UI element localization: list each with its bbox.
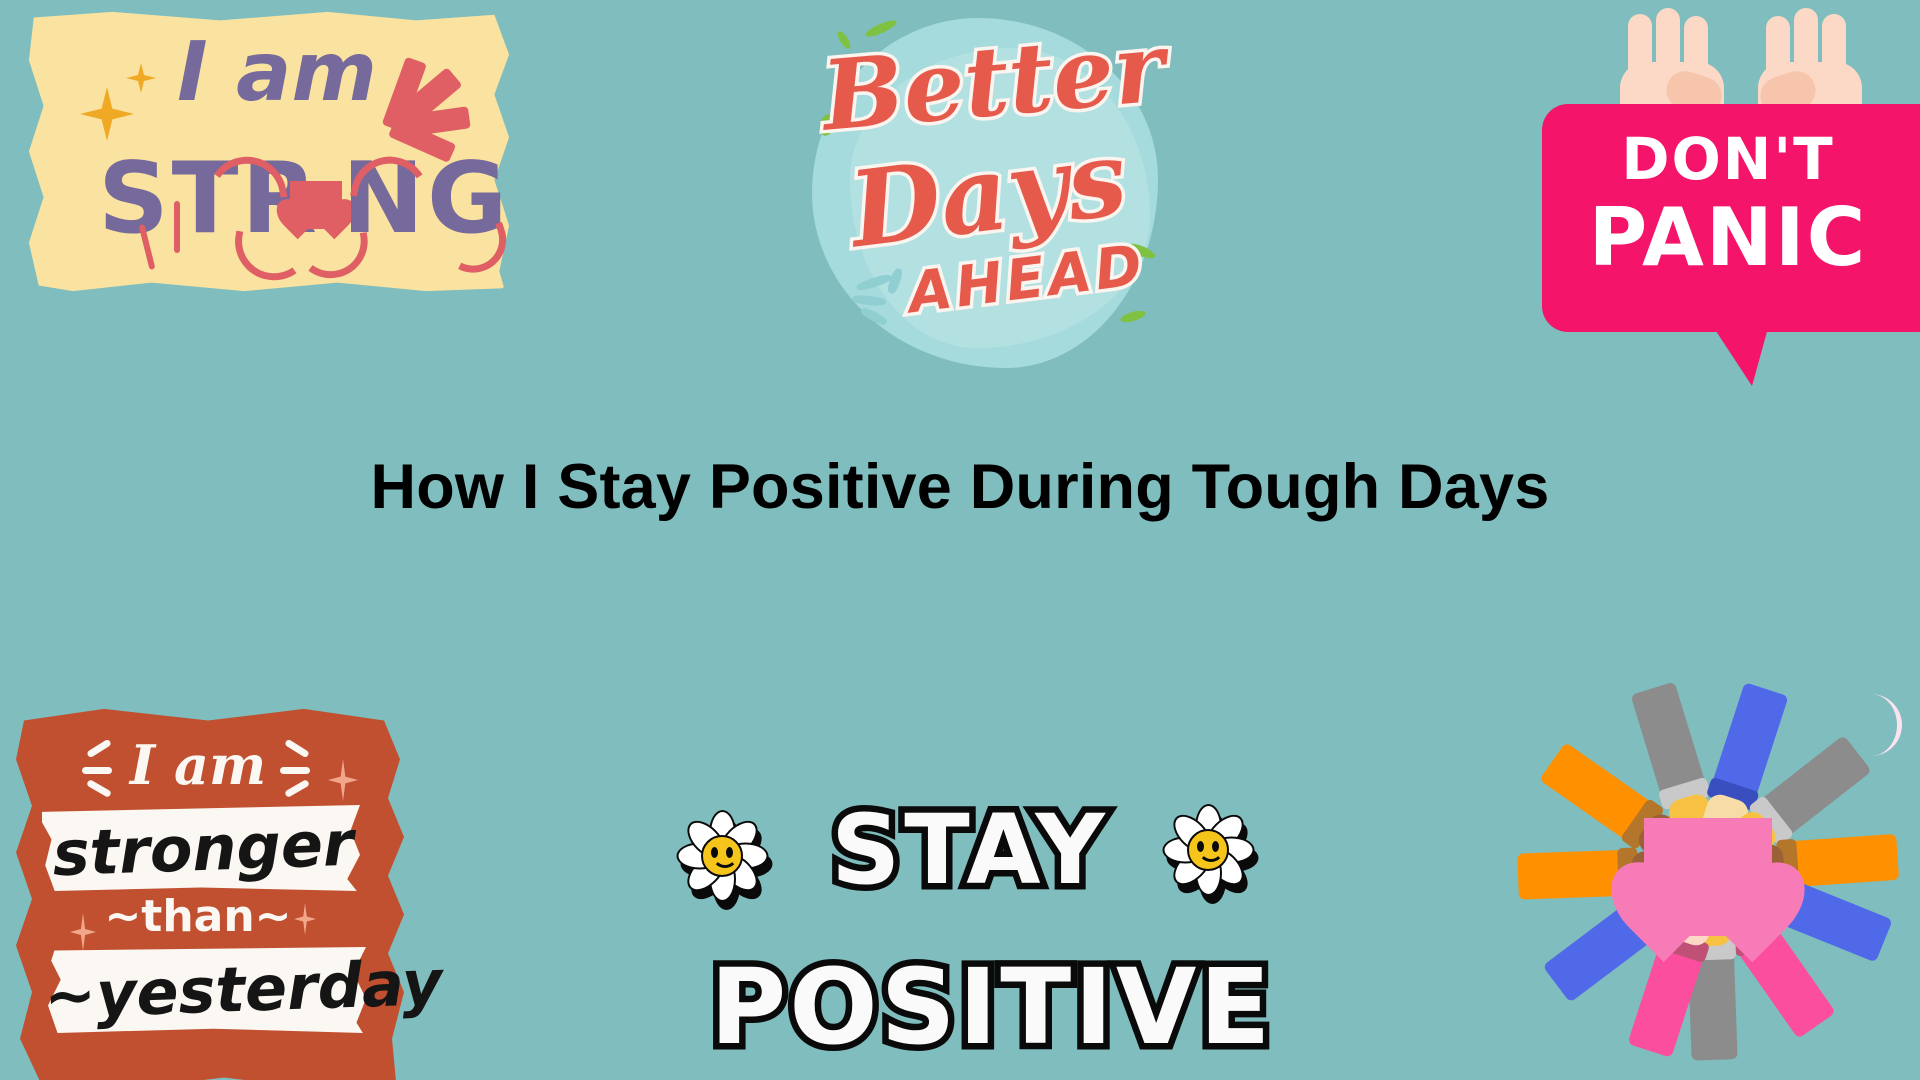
yesterday-line-1: I am — [48, 735, 348, 795]
leaf-accent — [1119, 309, 1146, 325]
better-days-ahead-sticker: Better Days AHEAD — [790, 0, 1180, 388]
hands-around-heart-illustration — [1495, 660, 1920, 1080]
poster-canvas: I am STR NG — [0, 0, 1920, 1080]
stay-positive-line-2: POSITIVE — [710, 940, 1230, 1074]
sticker-line-1: I am — [132, 21, 422, 125]
heart-icon — [290, 181, 342, 229]
smiley-face-icon — [701, 835, 743, 877]
dont-panic-line-2: PANIC — [1542, 196, 1914, 280]
stay-positive-line-1: STAY — [820, 788, 1120, 912]
stronger-than-yesterday-sticker: I am stronger ~than~ ~yesterday — [8, 705, 408, 1080]
yesterday-line-3: ~than~ — [48, 891, 348, 943]
burst-rays-icon — [392, 117, 393, 118]
stay-positive-sticker: STAY — [660, 780, 1280, 1080]
splash-accent — [856, 278, 857, 279]
daisy-flower-icon — [674, 808, 770, 904]
decorative-stroke — [174, 201, 180, 253]
speech-bubble-tail — [1714, 328, 1768, 386]
page-title: How I Stay Positive During Tough Days — [0, 449, 1920, 525]
dont-panic-sticker: DON'T PANIC — [1542, 8, 1920, 388]
dont-panic-line-1: DON'T — [1542, 128, 1914, 190]
smiley-face-icon — [1187, 829, 1229, 871]
heart-icon — [1644, 818, 1772, 936]
i-am-strong-sticker: I am STR NG — [24, 9, 514, 294]
daisy-flower-icon — [1160, 802, 1256, 898]
heart-gloss — [1863, 694, 1902, 756]
yesterday-line-2: stronger — [43, 802, 364, 895]
yesterday-line-4: ~yesterday — [43, 943, 372, 1038]
